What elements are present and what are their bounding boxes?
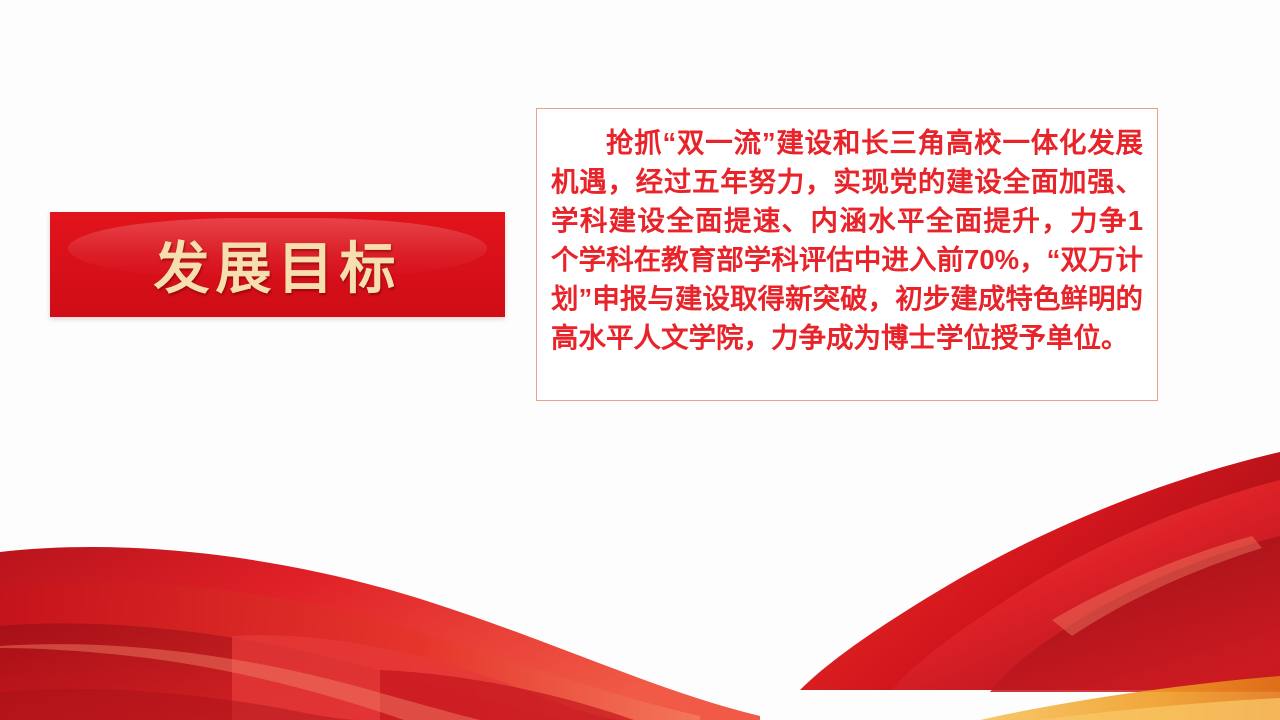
page-title: 发展目标 [50,212,505,317]
slide-canvas: 发展目标 抢抓“双一流”建设和长三角高校一体化发展机遇，经过五年努力，实现党的建… [0,0,1280,720]
section-title-plaque: 发展目标 [50,212,505,317]
red-ribbon-artwork [0,440,1280,720]
body-paragraph: 抢抓“双一流”建设和长三角高校一体化发展机遇，经过五年努力，实现党的建设全面加强… [551,123,1143,357]
ribbon-svg [0,440,1280,720]
body-text-box: 抢抓“双一流”建设和长三角高校一体化发展机遇，经过五年努力，实现党的建设全面加强… [536,108,1158,401]
